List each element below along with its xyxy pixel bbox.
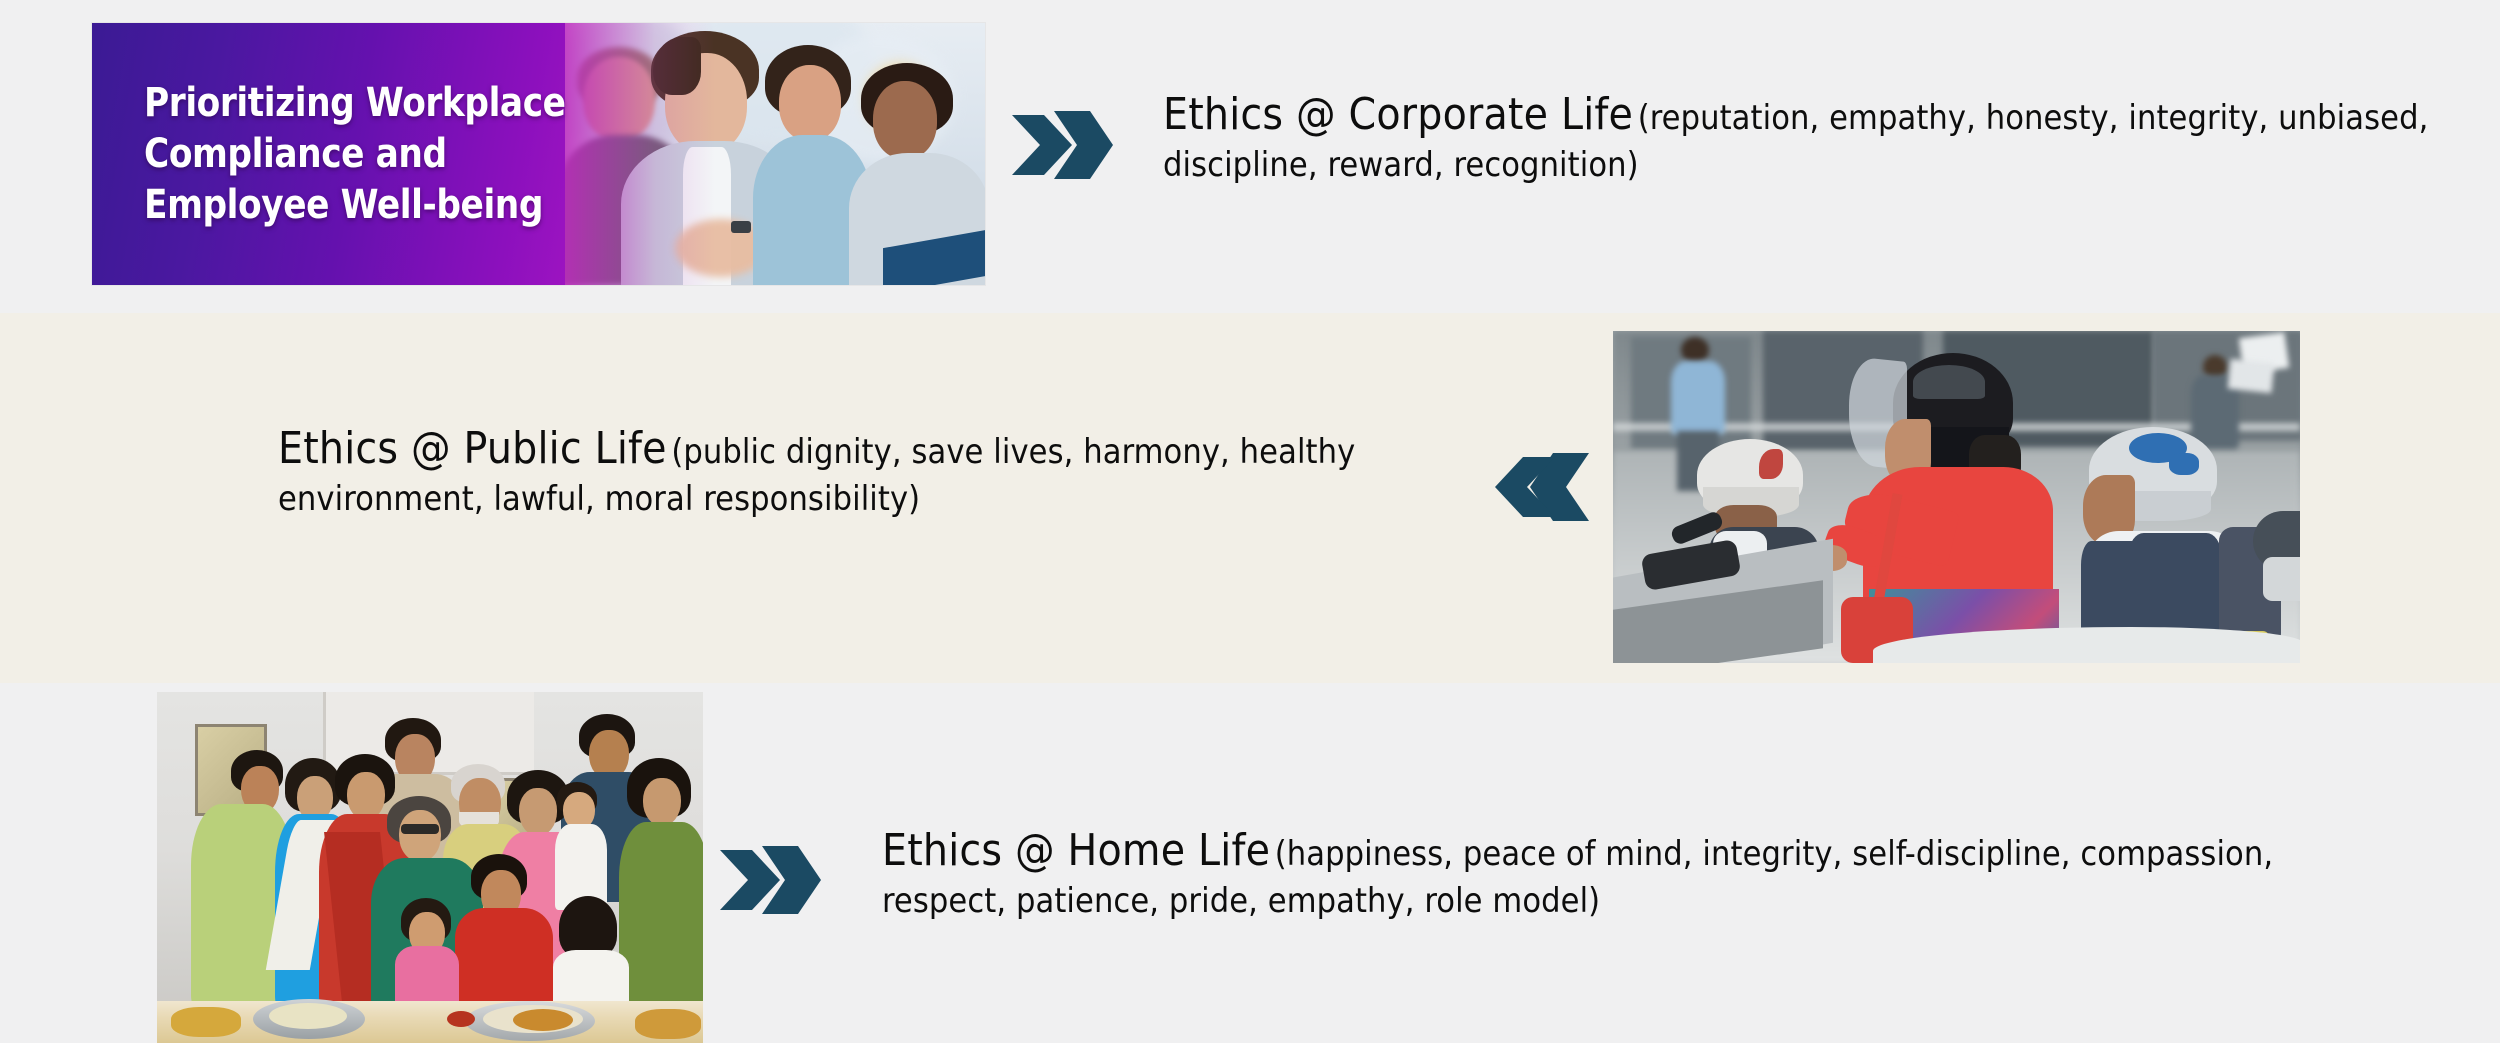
public-life-heading: Ethics @ Public Life (278, 423, 667, 474)
home-life-text: Ethics @ Home Life (happiness, peace of … (882, 822, 2282, 923)
slide-canvas: Prioritizing Workplace Compliance and Em… (0, 0, 2500, 1043)
corporate-life-text: Ethics @ Corporate Life (reputation, emp… (1163, 86, 2483, 187)
double-chevron-right-icon (718, 840, 823, 920)
banner-title: Prioritizing Workplace Compliance and Em… (144, 78, 591, 232)
double-chevron-right-icon (1010, 105, 1115, 185)
workplace-compliance-banner: Prioritizing Workplace Compliance and Em… (92, 23, 985, 285)
business-people-meeting-photo (565, 23, 985, 285)
corporate-life-heading: Ethics @ Corporate Life (1163, 89, 1633, 140)
public-life-text: Ethics @ Public Life (public dignity, sa… (278, 420, 1458, 521)
double-chevron-left-icon (1492, 447, 1597, 527)
family-riding-scooter-with-helmets-photo (1613, 331, 2300, 663)
home-life-heading: Ethics @ Home Life (882, 825, 1270, 876)
indian-joint-family-group-photo (157, 692, 703, 1043)
